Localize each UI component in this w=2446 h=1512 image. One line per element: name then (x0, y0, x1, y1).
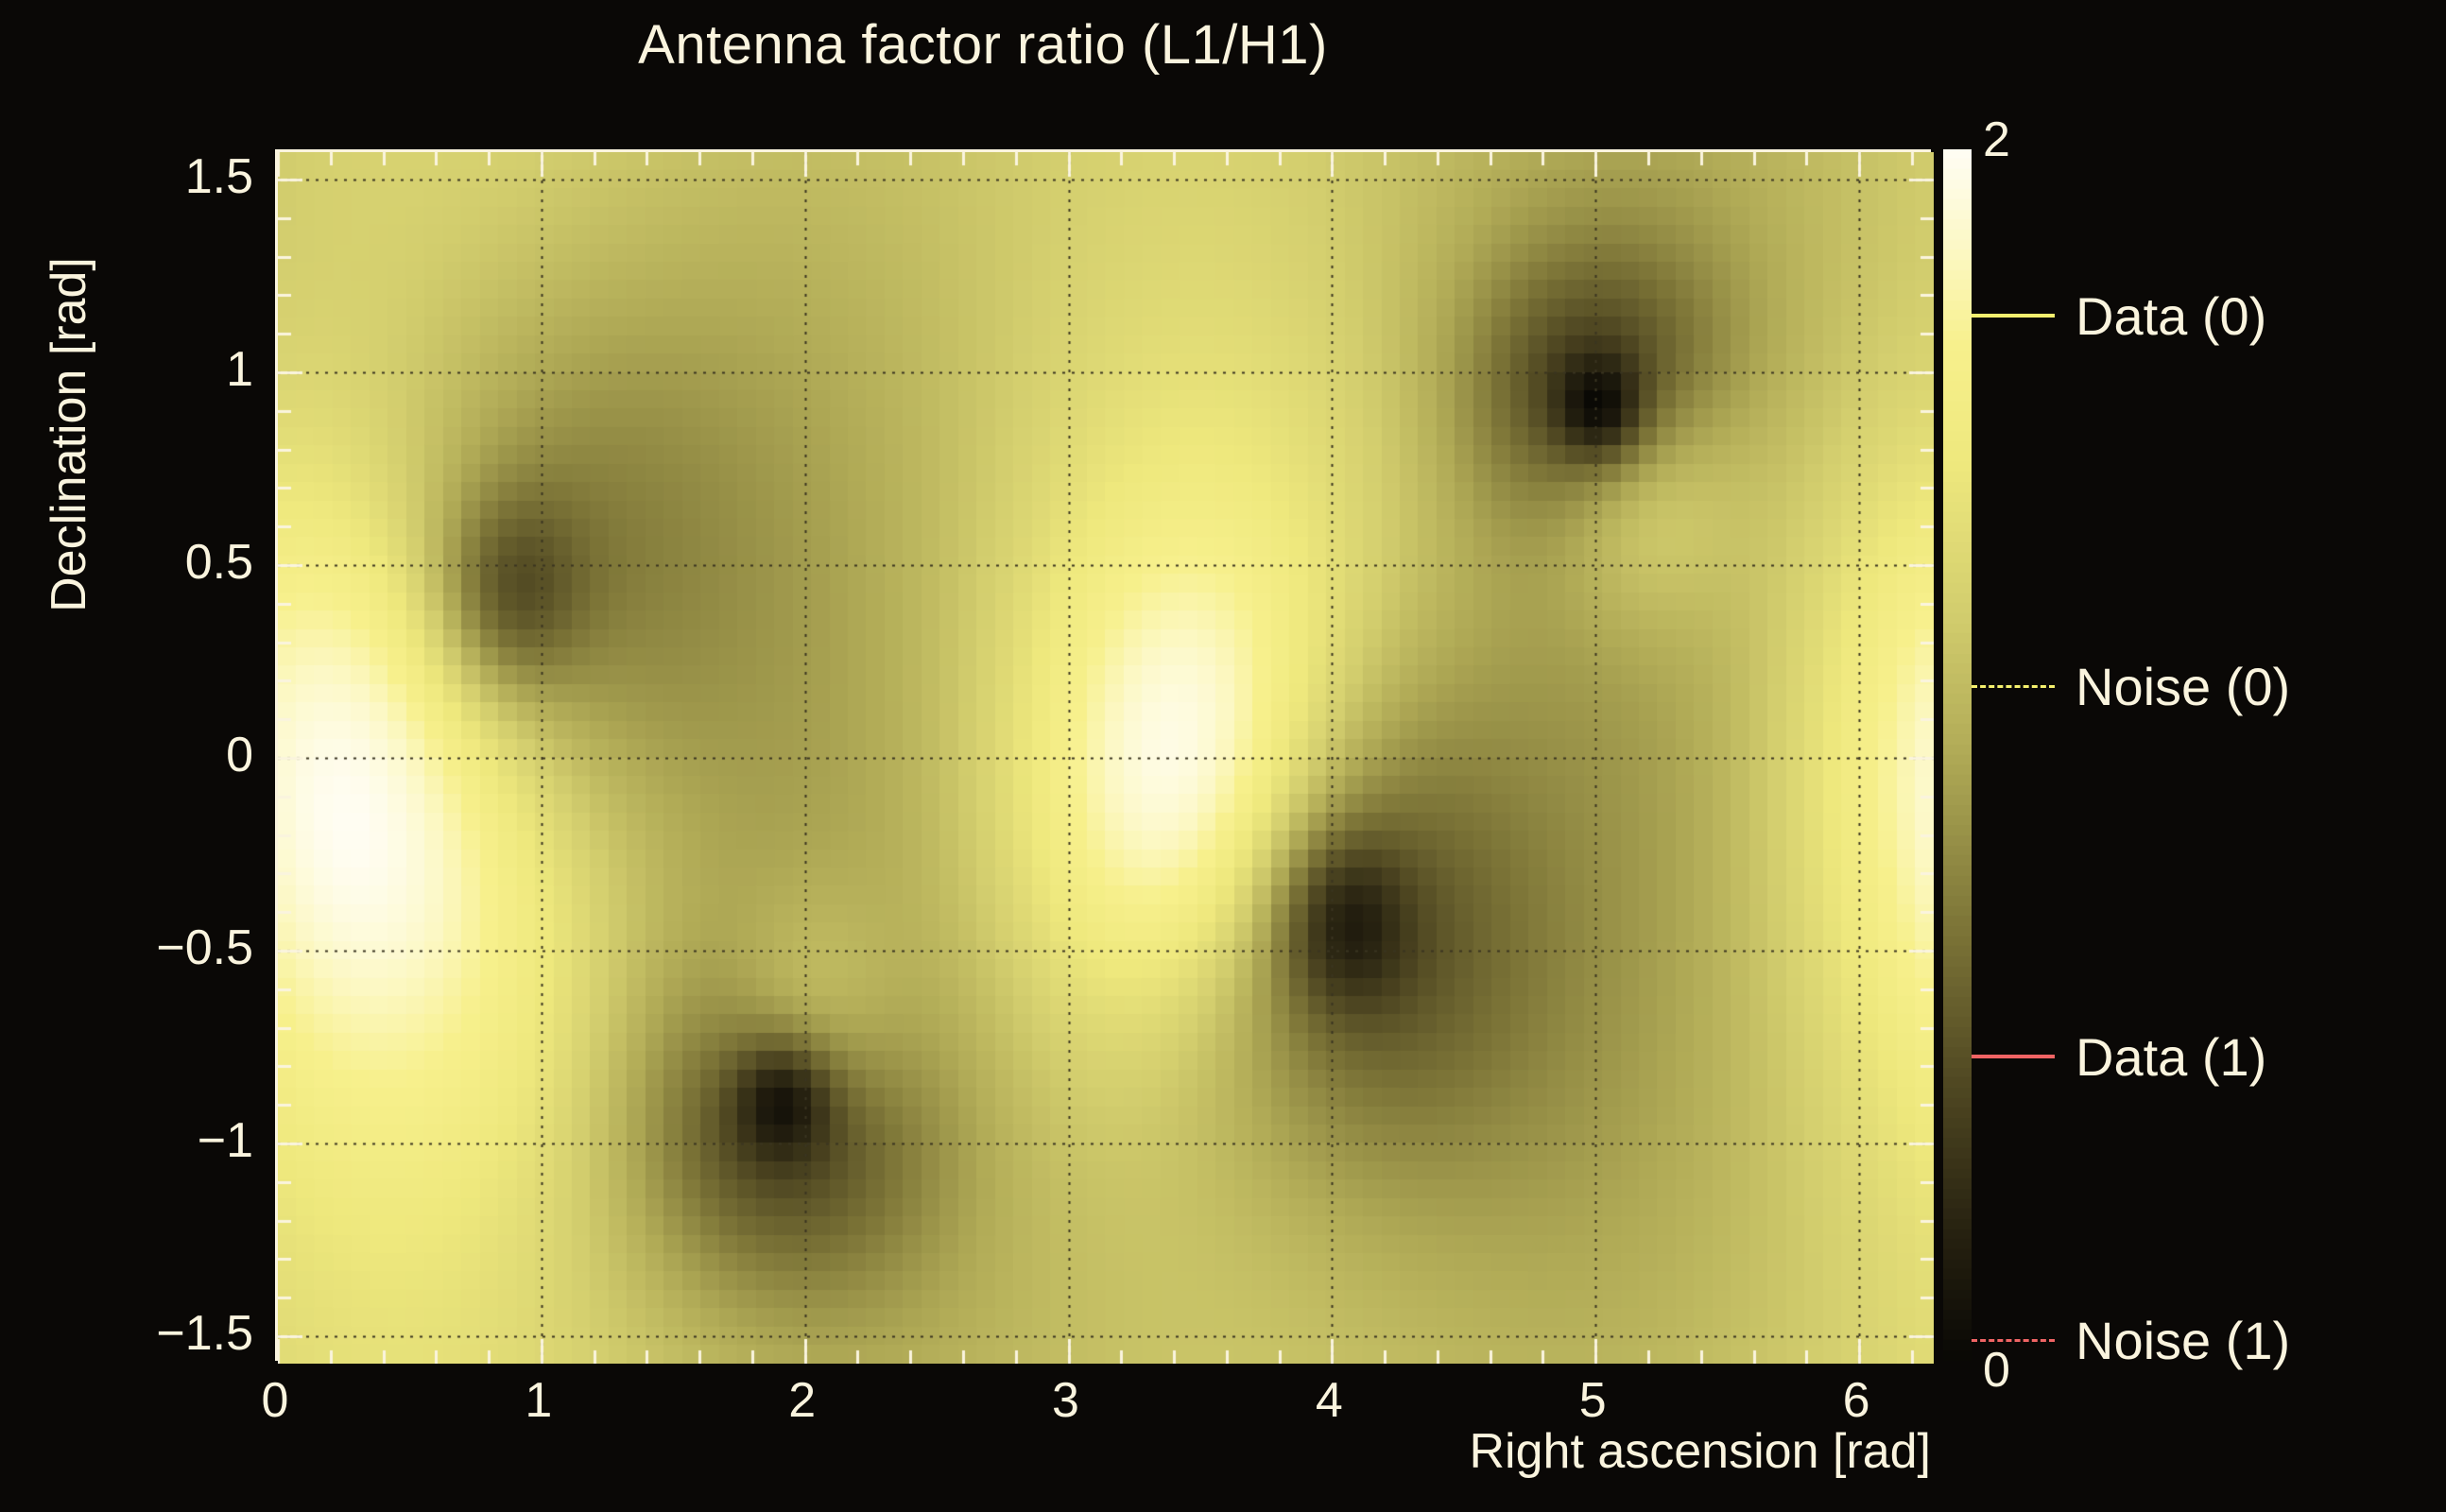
y-tick-label: −1.5 (156, 1305, 253, 1362)
legend-item[interactable]: Noise (1) (1972, 1295, 2446, 1385)
colorbar-gradient (1943, 149, 1972, 1361)
y-tick-label: 0 (226, 727, 253, 783)
legend-item[interactable]: Data (0) (1972, 270, 2446, 361)
legend-line-swatch (1972, 685, 2055, 688)
legend-line-swatch (1972, 314, 2055, 318)
y-tick-label: 0.5 (185, 534, 253, 591)
x-tick-label: 4 (1316, 1372, 1343, 1429)
x-tick-label: 6 (1843, 1372, 1870, 1429)
legend-item[interactable]: Data (1) (1972, 1011, 2446, 1102)
y-tick-label: −1 (198, 1112, 253, 1169)
x-axis-title: Right ascension [rad] (986, 1423, 1931, 1480)
legend-item[interactable]: Noise (0) (1972, 641, 2446, 731)
y-axis-tick-labels: 1.510.50−0.5−1−1.5 (0, 0, 253, 1512)
legend-item-label: Noise (1) (2076, 1310, 2290, 1371)
x-tick-label: 2 (788, 1372, 816, 1429)
y-tick-label: 1 (226, 341, 253, 398)
x-tick-label: 0 (262, 1372, 289, 1429)
legend-line-swatch (1972, 1055, 2055, 1058)
x-tick-label: 3 (1052, 1372, 1079, 1429)
heatmap-image (278, 152, 1934, 1364)
colorbar (1943, 149, 1972, 1361)
y-tick-label: 1.5 (185, 148, 253, 205)
x-tick-label: 5 (1579, 1372, 1607, 1429)
legend: Data (0)Noise (0)Data (1)Noise (1) (1972, 149, 2446, 1361)
y-axis-title: Declination [rad] (41, 170, 97, 699)
legend-item-label: Data (0) (2076, 285, 2266, 347)
x-tick-label: 1 (525, 1372, 552, 1429)
y-tick-label: −0.5 (156, 919, 253, 976)
legend-item-label: Noise (0) (2076, 656, 2290, 717)
legend-item-label: Data (1) (2076, 1026, 2266, 1088)
heatmap-plot-area[interactable] (275, 149, 1931, 1361)
legend-line-swatch (1972, 1339, 2055, 1342)
page-title: Antenna factor ratio (L1/H1) (0, 13, 1966, 77)
